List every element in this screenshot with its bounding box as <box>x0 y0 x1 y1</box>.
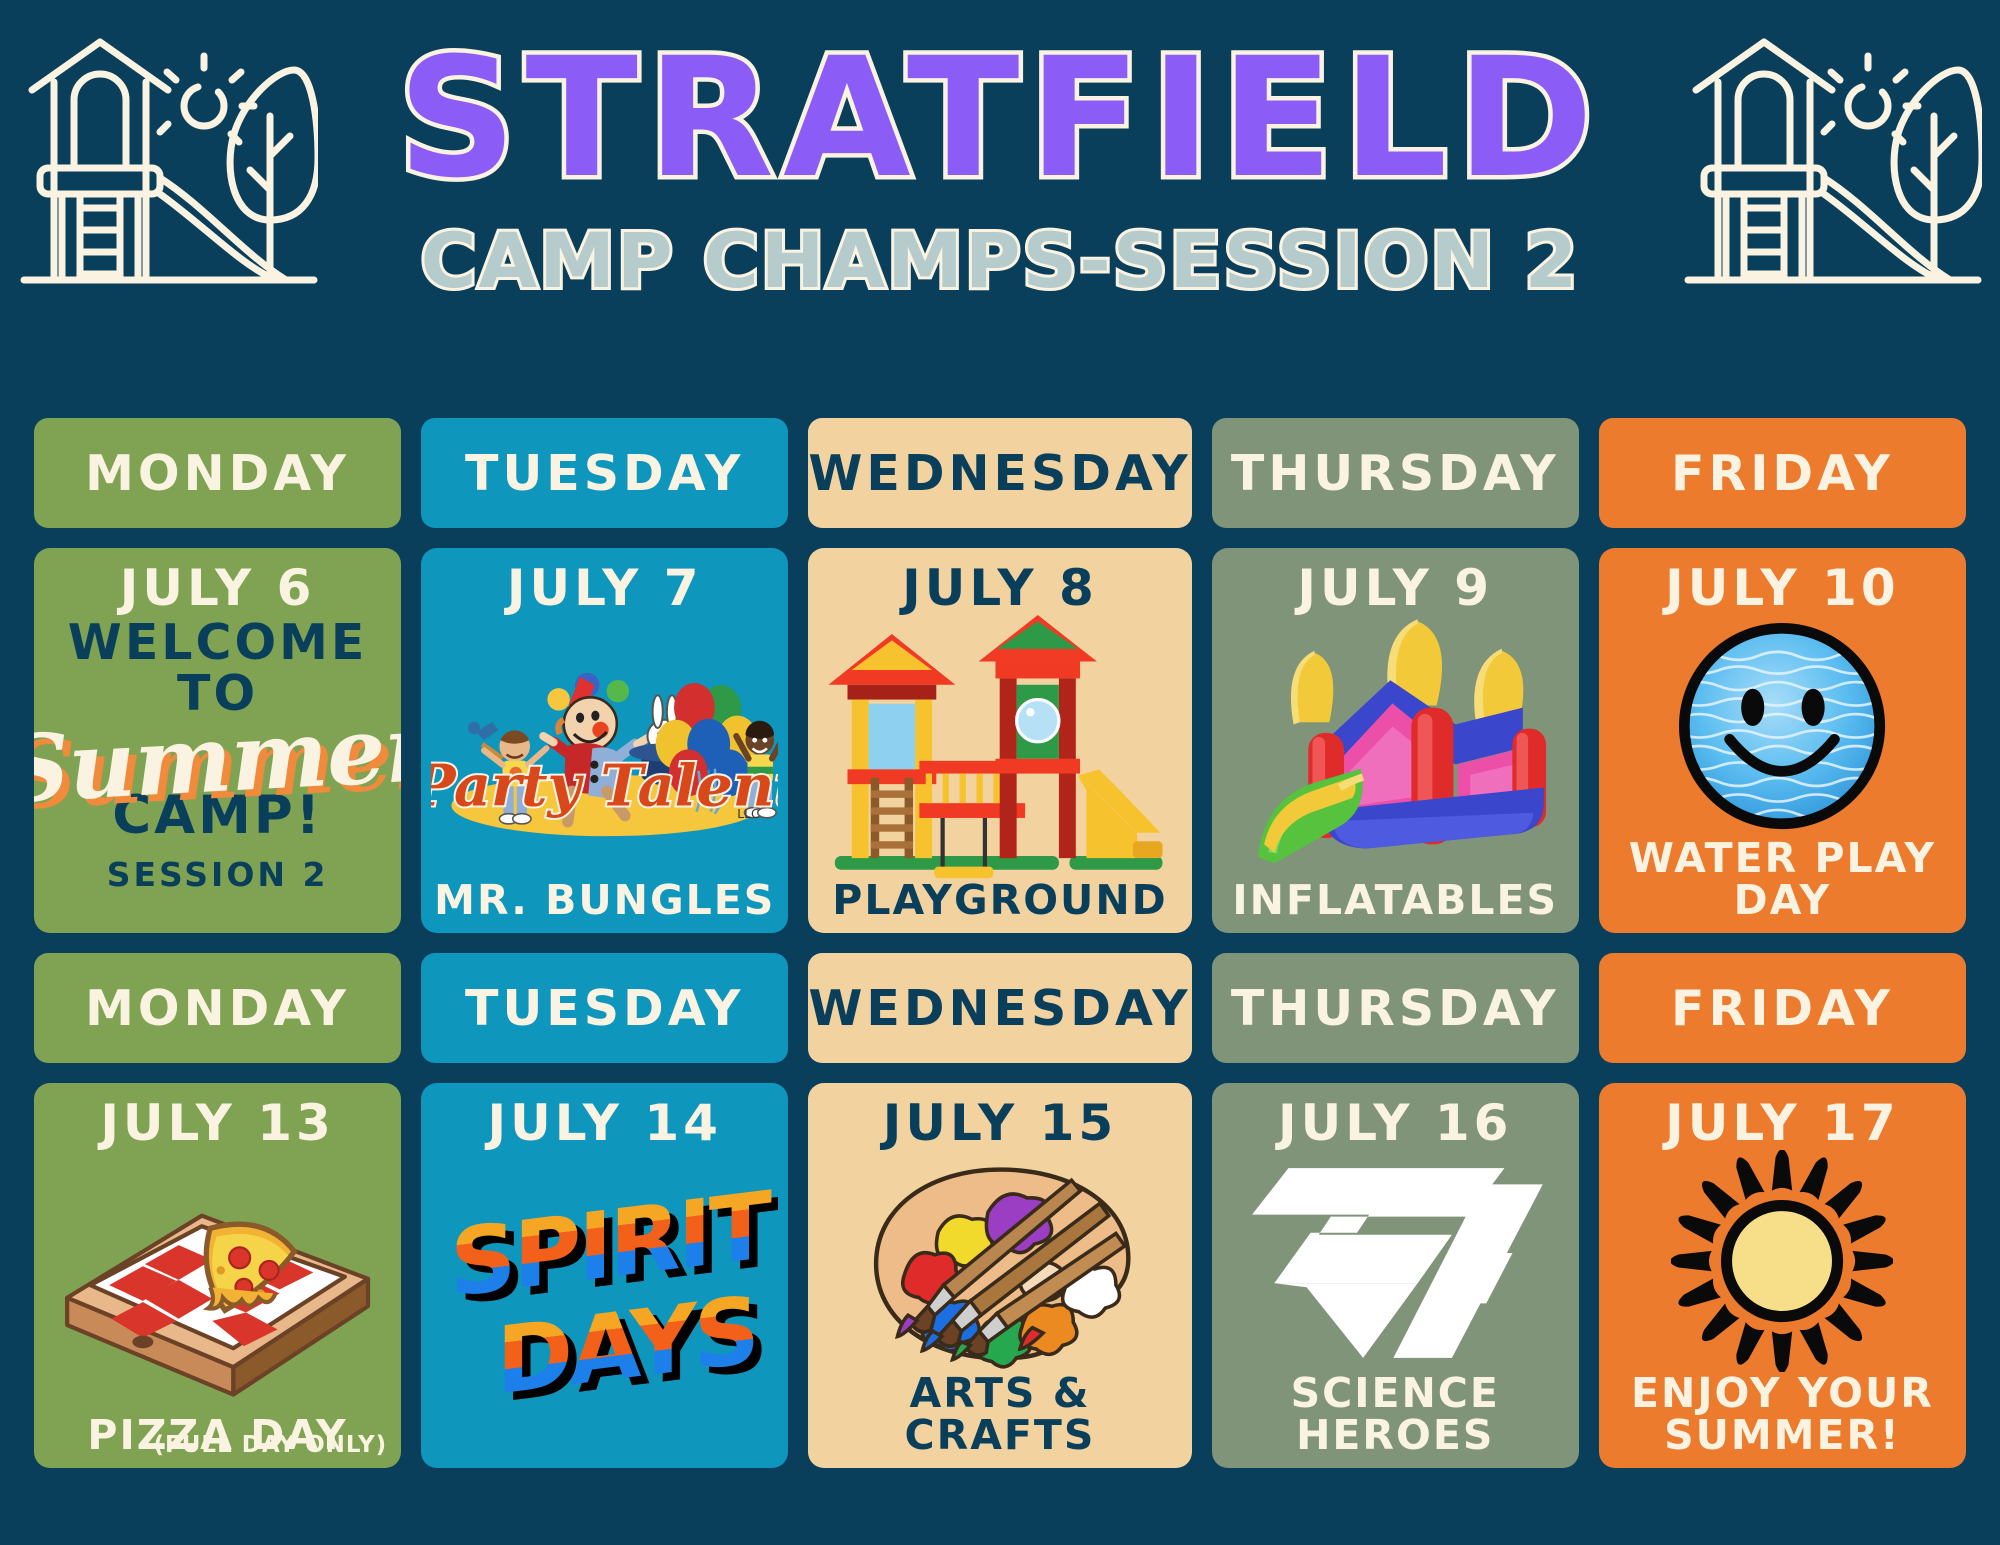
cell-date: JULY 8 <box>902 562 1098 615</box>
dayheader-friday: FRIDAY <box>1599 418 1966 528</box>
svg-text:LLC: LLC <box>737 807 759 821</box>
cell-caption: ARTS & CRAFTS <box>818 1372 1181 1456</box>
cell-date: JULY 15 <box>883 1097 1117 1150</box>
summer-script-text: Summer <box>34 705 401 815</box>
schedule-grid: MONDAY TUESDAY WEDNESDAY THURSDAY FRIDAY… <box>34 418 1966 1468</box>
page-subtitle: CAMP CHAMPS-SESSION 2 <box>421 223 1580 299</box>
dayheader-tuesday: TUESDAY <box>421 953 788 1063</box>
poster-header: STRATFIELD CAMP CHAMPS-SESSION 2 <box>0 0 2000 415</box>
spirit-days-logo: SPIRIT SPIRIT DAYS DAYS <box>431 1150 778 1457</box>
cell-july-13[interactable]: JULY 13 <box>34 1083 401 1468</box>
title-block: STRATFIELD CAMP CHAMPS-SESSION 2 <box>330 36 1670 299</box>
cell-july-8[interactable]: JULY 8 <box>808 548 1191 933</box>
science-heroes-logo <box>1222 1150 1569 1372</box>
svg-text:Party Talent: Party Talent <box>431 753 778 820</box>
session-text: SESSION 2 <box>107 858 329 893</box>
cell-date: JULY 17 <box>1665 1097 1899 1150</box>
cell-caption: WATER PLAY DAY <box>1609 837 1956 921</box>
dayheader-tuesday: TUESDAY <box>421 418 788 528</box>
cell-date: JULY 9 <box>1297 562 1493 615</box>
paint-palette-icon <box>818 1150 1181 1372</box>
cell-july-10[interactable]: JULY 10 <box>1599 548 1966 933</box>
page-title: STRATFIELD <box>398 36 1603 201</box>
cell-july-9[interactable]: JULY 9 <box>1212 548 1579 933</box>
cell-date: JULY 7 <box>507 562 703 615</box>
cell-date: JULY 10 <box>1665 562 1899 615</box>
cell-date: JULY 14 <box>487 1097 721 1150</box>
dayheader-monday: MONDAY <box>34 418 401 528</box>
dayheader-wednesday: WEDNESDAY <box>808 953 1191 1063</box>
cell-july-16[interactable]: JULY 16 SCIENCE HEROES <box>1212 1083 1579 1468</box>
cell-caption: PLAYGROUND <box>818 879 1181 921</box>
cell-caption: INFLATABLES <box>1222 879 1569 921</box>
dayheader-thursday: THURSDAY <box>1212 418 1579 528</box>
playground-icon <box>818 615 1181 879</box>
cell-date: JULY 16 <box>1278 1097 1512 1150</box>
dayheader-friday: FRIDAY <box>1599 953 1966 1063</box>
camp-schedule-poster: STRATFIELD CAMP CHAMPS-SESSION 2 <box>0 0 2000 1545</box>
dayheader-thursday: THURSDAY <box>1212 953 1579 1063</box>
cell-july-6[interactable]: JULY 6 WELCOME TO Summer CAMP! SESSION 2 <box>34 548 401 933</box>
water-smiley-icon <box>1609 615 1956 837</box>
cell-july-15[interactable]: JULY 15 <box>808 1083 1191 1468</box>
cell-date: JULY 13 <box>100 1097 334 1150</box>
dayheader-monday: MONDAY <box>34 953 401 1063</box>
cell-date: JULY 6 <box>120 562 316 615</box>
dayheader-wednesday: WEDNESDAY <box>808 418 1191 528</box>
cell-july-17[interactable]: JULY 17 <box>1599 1083 1966 1468</box>
cell-july-14[interactable]: JULY 14 <box>421 1083 788 1468</box>
pizza-box-icon <box>44 1150 391 1414</box>
cell-caption: ENJOY YOUR SUMMER! <box>1609 1372 1956 1456</box>
sun-icon <box>1609 1150 1956 1372</box>
pizza-note: (FULL DAY ONLY) <box>154 1433 388 1458</box>
cell-caption: MR. BUNGLES <box>431 879 778 921</box>
playhouse-icon <box>1682 28 1982 298</box>
bounce-house-icon <box>1222 615 1569 879</box>
party-talent-logo: Party Talent LLC <box>431 615 778 879</box>
playhouse-icon <box>18 28 318 298</box>
cell-july-7[interactable]: JULY 7 <box>421 548 788 933</box>
cell-caption: SCIENCE HEROES <box>1222 1372 1569 1456</box>
